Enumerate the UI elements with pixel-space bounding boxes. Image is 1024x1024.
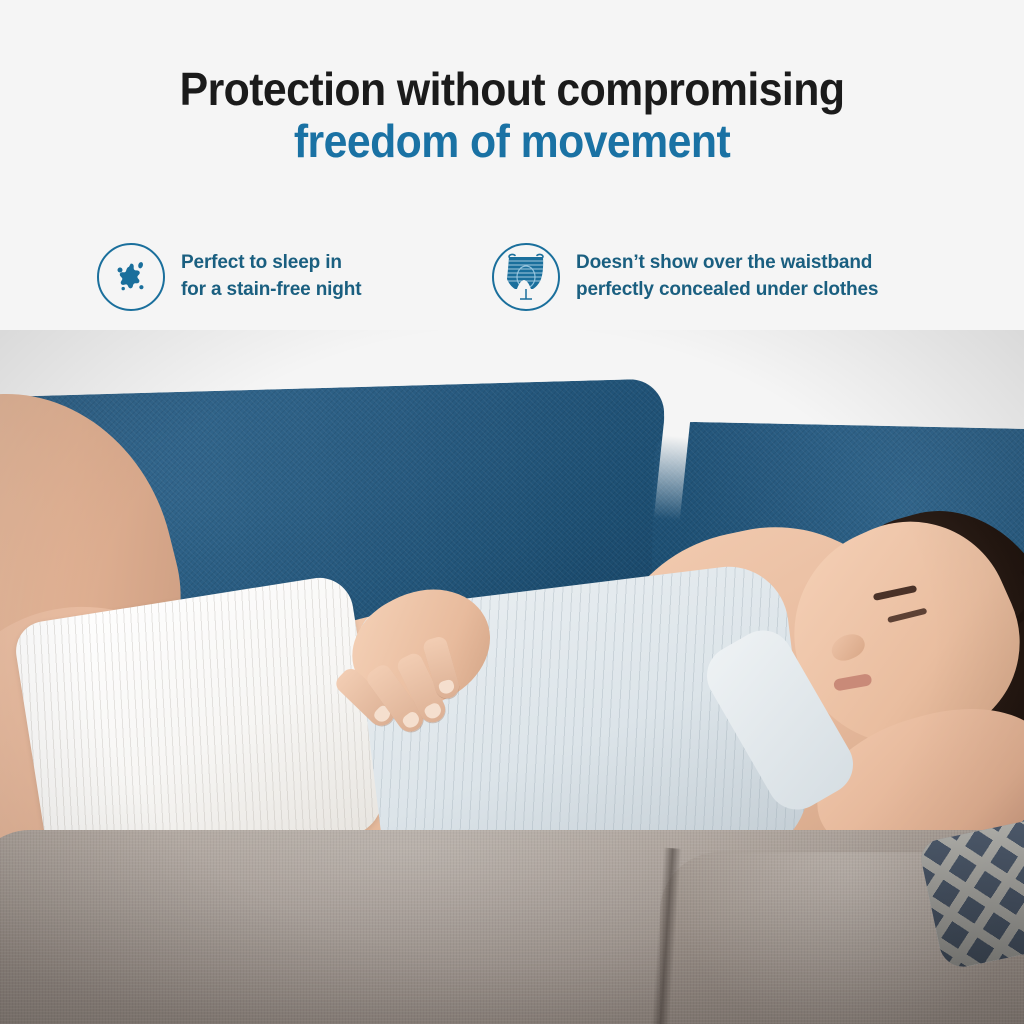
eyebrow [873,585,917,601]
feature-text-discreet: Doesn’t show over the waistband perfectl… [576,250,878,304]
underwear-brief-icon [492,243,560,311]
closed-eye [887,608,927,623]
headline-line-2: freedom of movement [36,118,988,166]
feature-discreet-line-2: perfectly concealed under clothes [576,277,878,304]
feature-item-discreet: Doesn’t show over the waistband perfectl… [492,243,878,311]
feature-discreet-line-1: Doesn’t show over the waistband [576,250,878,277]
lips [833,673,873,691]
feature-sleep-line-2: for a stain-free night [181,277,361,304]
splash-icon [97,243,165,311]
feature-sleep-line-1: Perfect to sleep in [181,250,361,277]
nose [828,629,869,665]
feature-item-sleep: Perfect to sleep in for a stain-free nig… [97,243,361,311]
headline-line-1: Protection without compromising [36,66,988,114]
lifestyle-photo [0,330,1024,1024]
feature-text-sleep: Perfect to sleep in for a stain-free nig… [181,250,361,304]
feature-list: Perfect to sleep in for a stain-free nig… [0,243,1024,343]
headline-block: Protection without compromising freedom … [0,66,1024,166]
product-feature-banner: Protection without compromising freedom … [0,0,1024,1024]
